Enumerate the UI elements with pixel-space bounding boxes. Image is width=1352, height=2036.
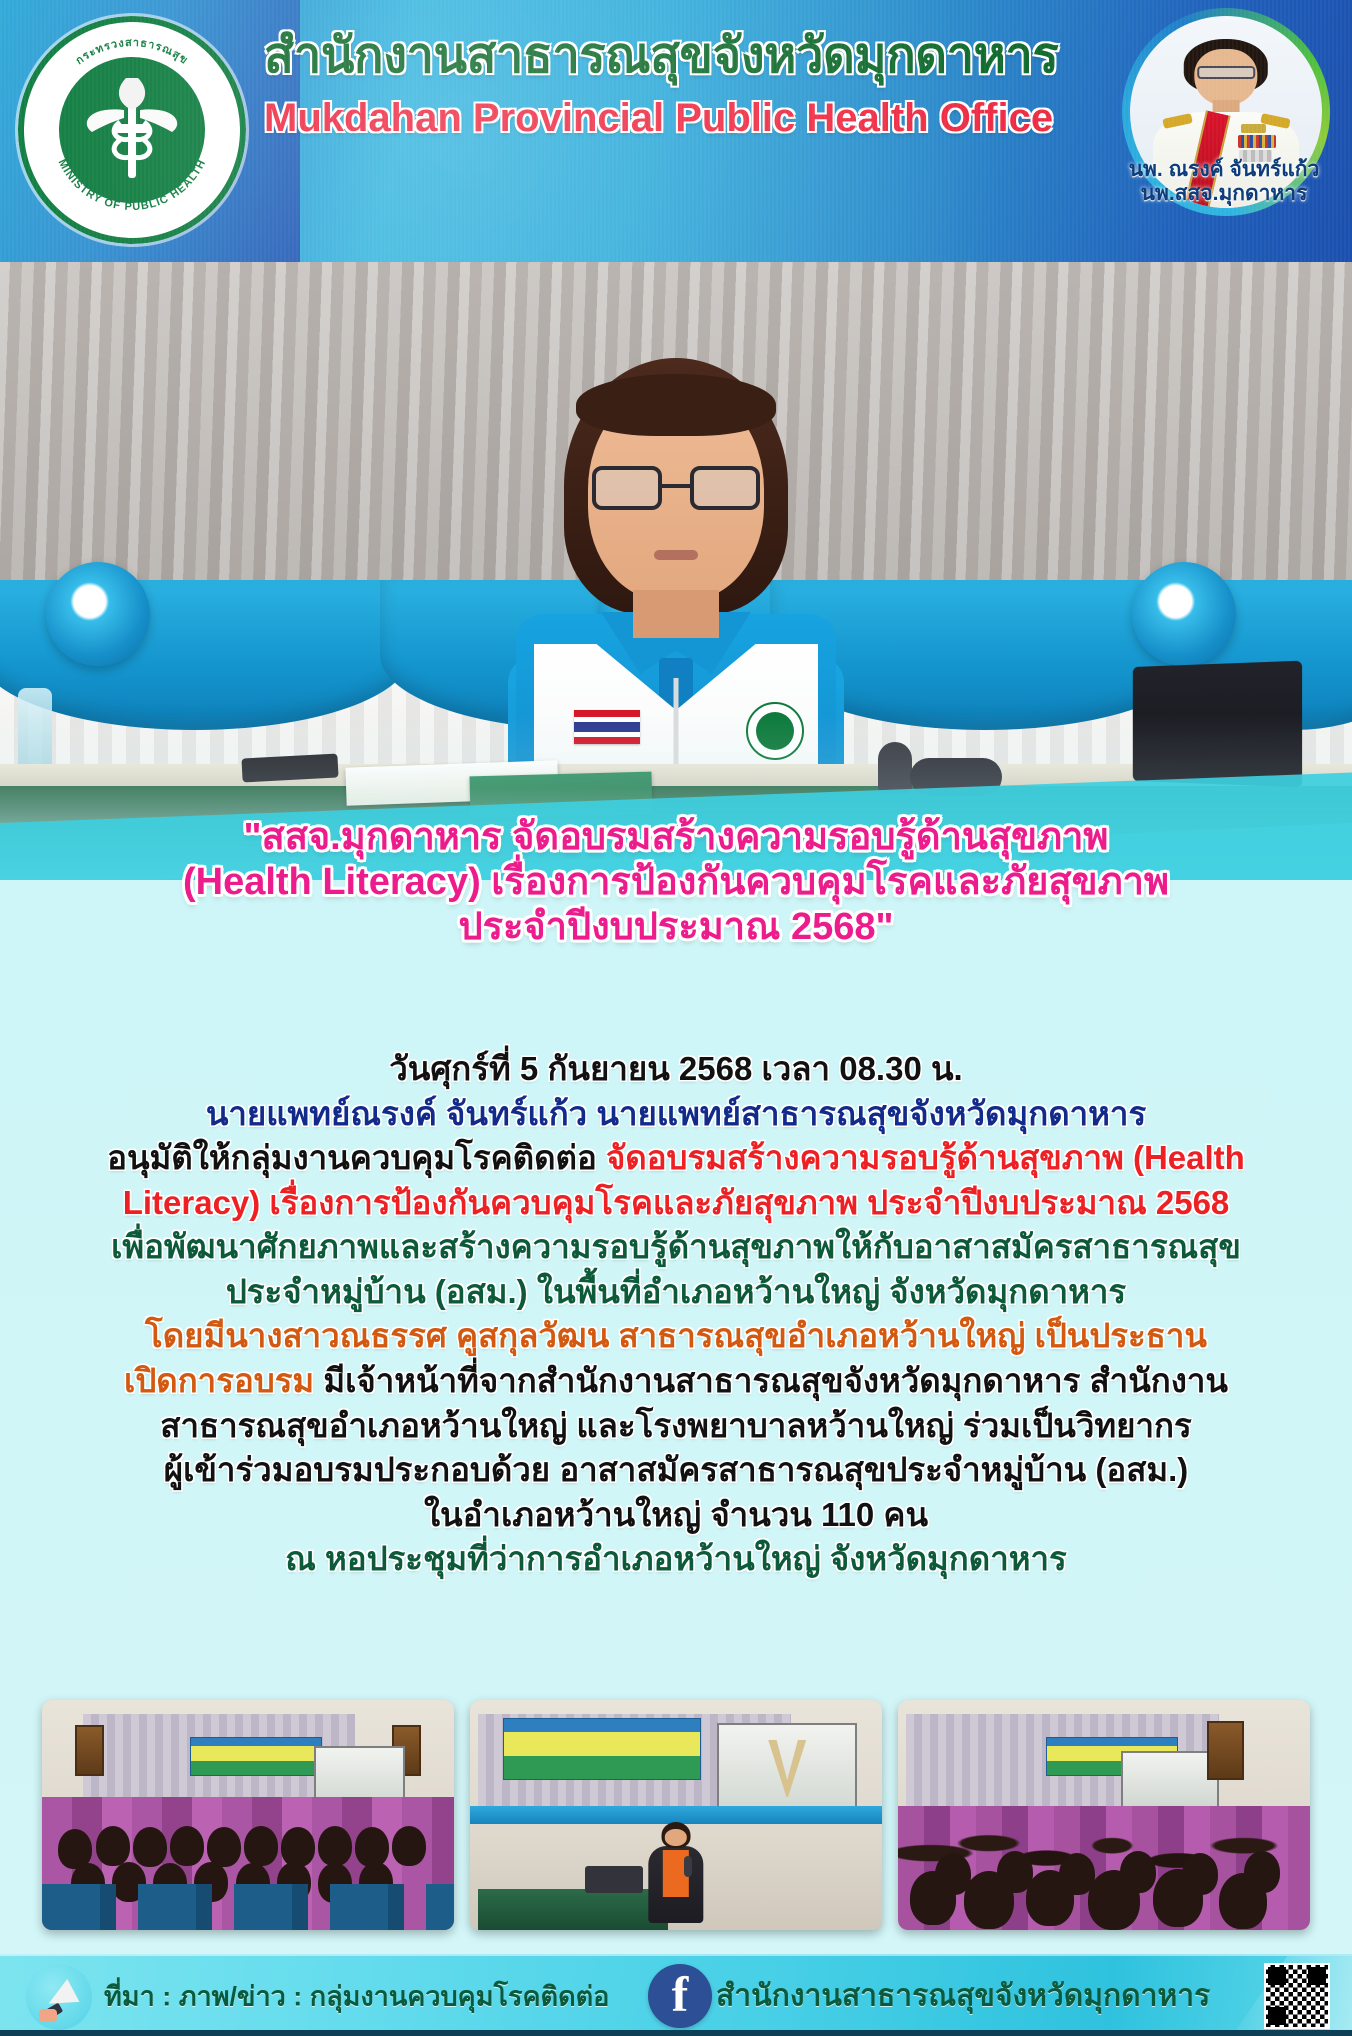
header-title-thai: สำนักงานสาธารณสุขจังหวัดมุกดาหาร (264, 30, 1084, 83)
gallery-photo-group (42, 1700, 454, 1930)
svg-text:กระทรวงสาธารณสุข: กระทรวงสาธารณสุข (74, 37, 191, 67)
qr-code-icon[interactable] (1264, 1963, 1330, 2029)
presenter-with-microphone (643, 1822, 709, 1923)
poster-footer: ที่มา : ภาพ/ข่าว : กลุ่มงานควบคุมโรคติดต… (0, 1954, 1352, 2036)
royal-portrait-frame (1207, 1721, 1244, 1781)
header-title-english: Mukdahan Provincial Public Health Office (264, 97, 1084, 139)
headline-line: ประจำปีงบประมาณ 2568" (26, 905, 1326, 950)
eyeglasses-icon (592, 466, 760, 510)
body-line: Literacy) เรื่องการป้องกันควบคุมโรคและภั… (18, 1182, 1334, 1224)
fabric-rosette (1132, 562, 1236, 666)
body-segment: อนุมัติให้กลุ่มงานควบคุมโรคติดต่อ (107, 1139, 606, 1176)
body-line: วันศุกร์ที่ 5 กันยายน 2568 เวลา 08.30 น. (18, 1048, 1334, 1090)
fabric-rosette (46, 562, 150, 666)
eyeglasses-icon (1197, 66, 1255, 79)
body-segment: จัดอบรมสร้างความรอบรู้ด้านสุขภาพ (Health (606, 1139, 1245, 1176)
header-titles: สำนักงานสาธารณสุขจังหวัดมุกดาหาร Mukdaha… (264, 30, 1084, 139)
poster-root: กระทรวงสาธารณสุข MINISTRY OF PUBLIC HEAL… (0, 0, 1352, 2036)
source-credit: ที่มา : ภาพ/ข่าว : กลุ่มงานควบคุมโรคติดต… (104, 1975, 609, 2018)
ministry-of-public-health-seal-icon: กระทรวงสาธารณสุข MINISTRY OF PUBLIC HEAL… (18, 16, 246, 244)
poster-headline: "สสจ.มุกดาหาร จัดอบรมสร้างความรอบรู้ด้าน… (0, 815, 1352, 949)
body-segment: มีเจ้าหน้าที่จากสำนักงานสาธารณสุขจังหวัด… (323, 1362, 1228, 1399)
headline-line: "สสจ.มุกดาหาร จัดอบรมสร้างความรอบรู้ด้าน… (26, 815, 1326, 860)
facebook-page-name[interactable]: สำนักงานสาธารณสุขจังหวัดมุกดาหาร (716, 1973, 1210, 2020)
microphone-icon (684, 1856, 692, 1876)
poster-header: กระทรวงสาธารณสุข MINISTRY OF PUBLIC HEAL… (0, 0, 1352, 262)
portrait-position: นพ.สสจ.มุกดาหาร (1106, 182, 1342, 206)
body-line: อนุมัติให้กลุ่มงานควบคุมโรคติดต่อ จัดอบร… (18, 1137, 1334, 1179)
body-line: เปิดการอบรม มีเจ้าหน้าที่จากสำนักงานสาธา… (18, 1360, 1334, 1402)
gallery-photo-speaker (470, 1700, 882, 1930)
laptop-computer (585, 1866, 643, 1894)
body-segment: เปิดการอบรม (124, 1362, 323, 1399)
body-line: ในอำเภอหว้านใหญ่ จำนวน 110 คน (18, 1494, 1334, 1536)
main-event-photo (0, 262, 1352, 880)
poster-body-text: วันศุกร์ที่ 5 กันยายน 2568 เวลา 08.30 น.… (0, 1048, 1352, 1583)
body-line: โดยมีนางสาวณธรรศ คูสกุลวัฒน สาธารณสุขอำเ… (18, 1315, 1334, 1357)
royal-portrait-frame (75, 1725, 104, 1776)
portrait-caption: นพ. ณรงค์ จันทร์แก้ว นพ.สสจ.มุกดาหาร (1106, 158, 1342, 205)
photo-gallery (0, 1700, 1352, 1940)
facebook-icon[interactable]: f (648, 1964, 712, 2028)
event-banner (190, 1737, 322, 1776)
body-line: ประจำหมู่บ้าน (อสม.) ในพื้นที่อำเภอหว้าน… (18, 1271, 1334, 1313)
megaphone-icon (26, 1964, 92, 2030)
body-line: สาธารณสุขอำเภอหว้านใหญ่ และโรงพยาบาลหว้า… (18, 1405, 1334, 1447)
event-banner (503, 1718, 701, 1780)
body-line: ณ หอประชุมที่ว่าการอำเภอหว้านใหญ่ จังหวั… (18, 1538, 1334, 1580)
head-table (478, 1889, 668, 1930)
portrait-name: นพ. ณรงค์ จันทร์แก้ว (1106, 158, 1342, 182)
body-line: เพื่อพัฒนาศักยภาพและสร้างความรอบรู้ด้านส… (18, 1226, 1334, 1268)
body-line: ผู้เข้าร่วมอบรมประกอบด้วย อาสาสมัครสาธาร… (18, 1449, 1334, 1491)
gallery-photo-audience (898, 1700, 1310, 1930)
blue-chairs (42, 1884, 454, 1930)
headline-line: (Health Literacy) เรื่องการป้องกันควบคุม… (26, 860, 1326, 905)
body-line: นายแพทย์ณรงค์ จันทร์แก้ว นายแพทย์สาธารณส… (18, 1093, 1334, 1135)
